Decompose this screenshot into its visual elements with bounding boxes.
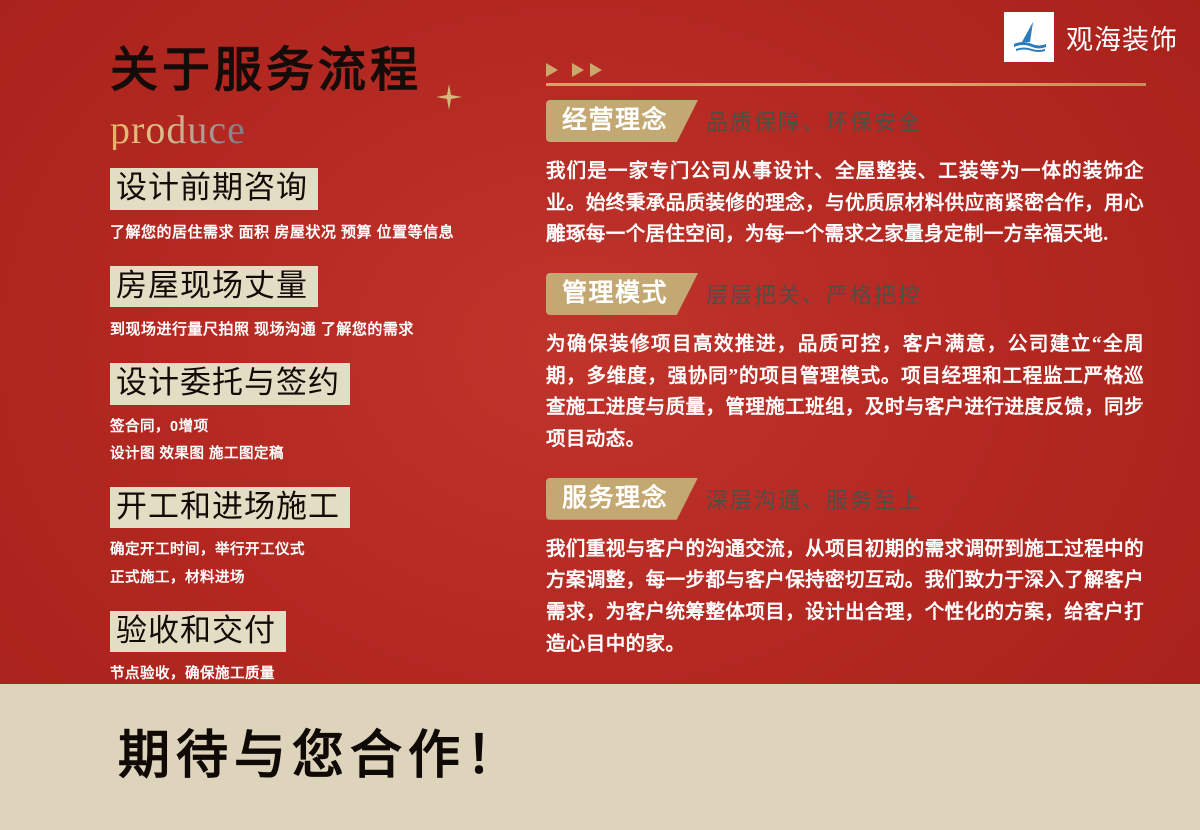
left-column: 关于服务流程 produce 设计前期咨询 了解您的居住需求 面积 房屋状况 预…	[110, 46, 530, 716]
closing-slogan: 期待与您合作！	[118, 731, 524, 783]
info-block-paragraph: 我们重视与客户的沟通交流，从项目初期的需求调研到施工过程中的方案调整，每一步都与…	[546, 534, 1144, 660]
info-block-paragraph: 我们是一家专门公司从事设计、全屋整装、工装等为一体的装饰企业。始终秉承品质装修的…	[546, 156, 1144, 251]
brand-name: 观海装饰	[1066, 18, 1178, 57]
section-tagline: 品质保障、环保安全	[706, 105, 922, 137]
page-title-text: 关于服务流程	[110, 44, 422, 97]
right-column: 经营理念 品质保障、环保安全 我们是一家专门公司从事设计、全屋整装、工装等为一体…	[546, 62, 1146, 660]
triangle-icon	[590, 63, 602, 77]
step-detail-line: 确定开工时间，举行开工仪式	[110, 537, 530, 565]
step-detail-line: 签合同，0增项	[110, 414, 530, 442]
section-tag: 服务理念	[546, 478, 698, 520]
page-title: 关于服务流程	[110, 46, 422, 96]
step-detail-line: 正式施工，材料进场	[110, 565, 530, 593]
step-detail-line: 到现场进行量尺拍照 现场沟通 了解您的需求	[110, 316, 530, 345]
triangle-icon	[572, 63, 584, 77]
sail-wave-logo-icon	[1004, 12, 1054, 62]
section-tag: 经营理念	[546, 100, 698, 142]
info-block: 管理模式 层层把关、严格把控 为确保装修项目高效推进，品质可控，客户满意，公司建…	[546, 273, 1146, 456]
triangle-icon	[546, 63, 558, 77]
step-detail-list: 确定开工时间，举行开工仪式 正式施工，材料进场	[110, 537, 530, 592]
step-detail-list: 了解您的居住需求 面积 房屋状况 预算 位置等信息	[110, 219, 530, 248]
page-subtitle-en: produce	[110, 110, 246, 150]
sparkle-star-icon	[436, 70, 462, 96]
step-heading: 房屋现场丈量	[110, 266, 318, 308]
process-step: 房屋现场丈量 到现场进行量尺拍照 现场沟通 了解您的需求	[110, 266, 530, 345]
section-tag: 管理模式	[546, 273, 698, 315]
info-block-paragraph: 为确保装修项目高效推进，品质可控，客户满意，公司建立“全周期，多维度，强协同”的…	[546, 329, 1144, 455]
step-detail-line: 设计图 效果图 施工图定稿	[110, 441, 530, 469]
gold-divider	[546, 83, 1146, 86]
brand-logo: 观海装饰	[1004, 12, 1178, 62]
info-block-header: 管理模式 层层把关、严格把控	[546, 273, 1146, 315]
step-detail-list: 签合同，0增项 设计图 效果图 施工图定稿	[110, 414, 530, 469]
step-heading: 验收和交付	[110, 611, 286, 653]
triple-triangle-icon	[546, 62, 1146, 78]
step-detail-line: 了解您的居住需求 面积 房屋状况 预算 位置等信息	[110, 219, 530, 248]
step-detail-list: 到现场进行量尺拍照 现场沟通 了解您的需求	[110, 316, 530, 345]
info-block-header: 服务理念 深层沟通、服务至上	[546, 478, 1146, 520]
info-block: 服务理念 深层沟通、服务至上 我们重视与客户的沟通交流，从项目初期的需求调研到施…	[546, 478, 1146, 661]
info-block-header: 经营理念 品质保障、环保安全	[546, 100, 1146, 142]
process-step: 设计委托与签约 签合同，0增项 设计图 效果图 施工图定稿	[110, 363, 530, 469]
bottom-banner: 期待与您合作！	[0, 684, 1200, 830]
step-heading: 设计前期咨询	[110, 168, 318, 210]
info-block: 经营理念 品质保障、环保安全 我们是一家专门公司从事设计、全屋整装、工装等为一体…	[546, 100, 1146, 251]
poster-canvas: 观海装饰 关于服务流程 produce 设计前期咨询 了解您的居住需求 面积 房…	[0, 0, 1200, 830]
section-tagline: 层层把关、严格把控	[706, 278, 922, 310]
step-heading: 开工和进场施工	[110, 487, 350, 529]
section-tagline: 深层沟通、服务至上	[706, 483, 922, 515]
process-step: 开工和进场施工 确定开工时间，举行开工仪式 正式施工，材料进场	[110, 487, 530, 593]
step-heading: 设计委托与签约	[110, 363, 350, 405]
process-step: 设计前期咨询 了解您的居住需求 面积 房屋状况 预算 位置等信息	[110, 168, 530, 247]
